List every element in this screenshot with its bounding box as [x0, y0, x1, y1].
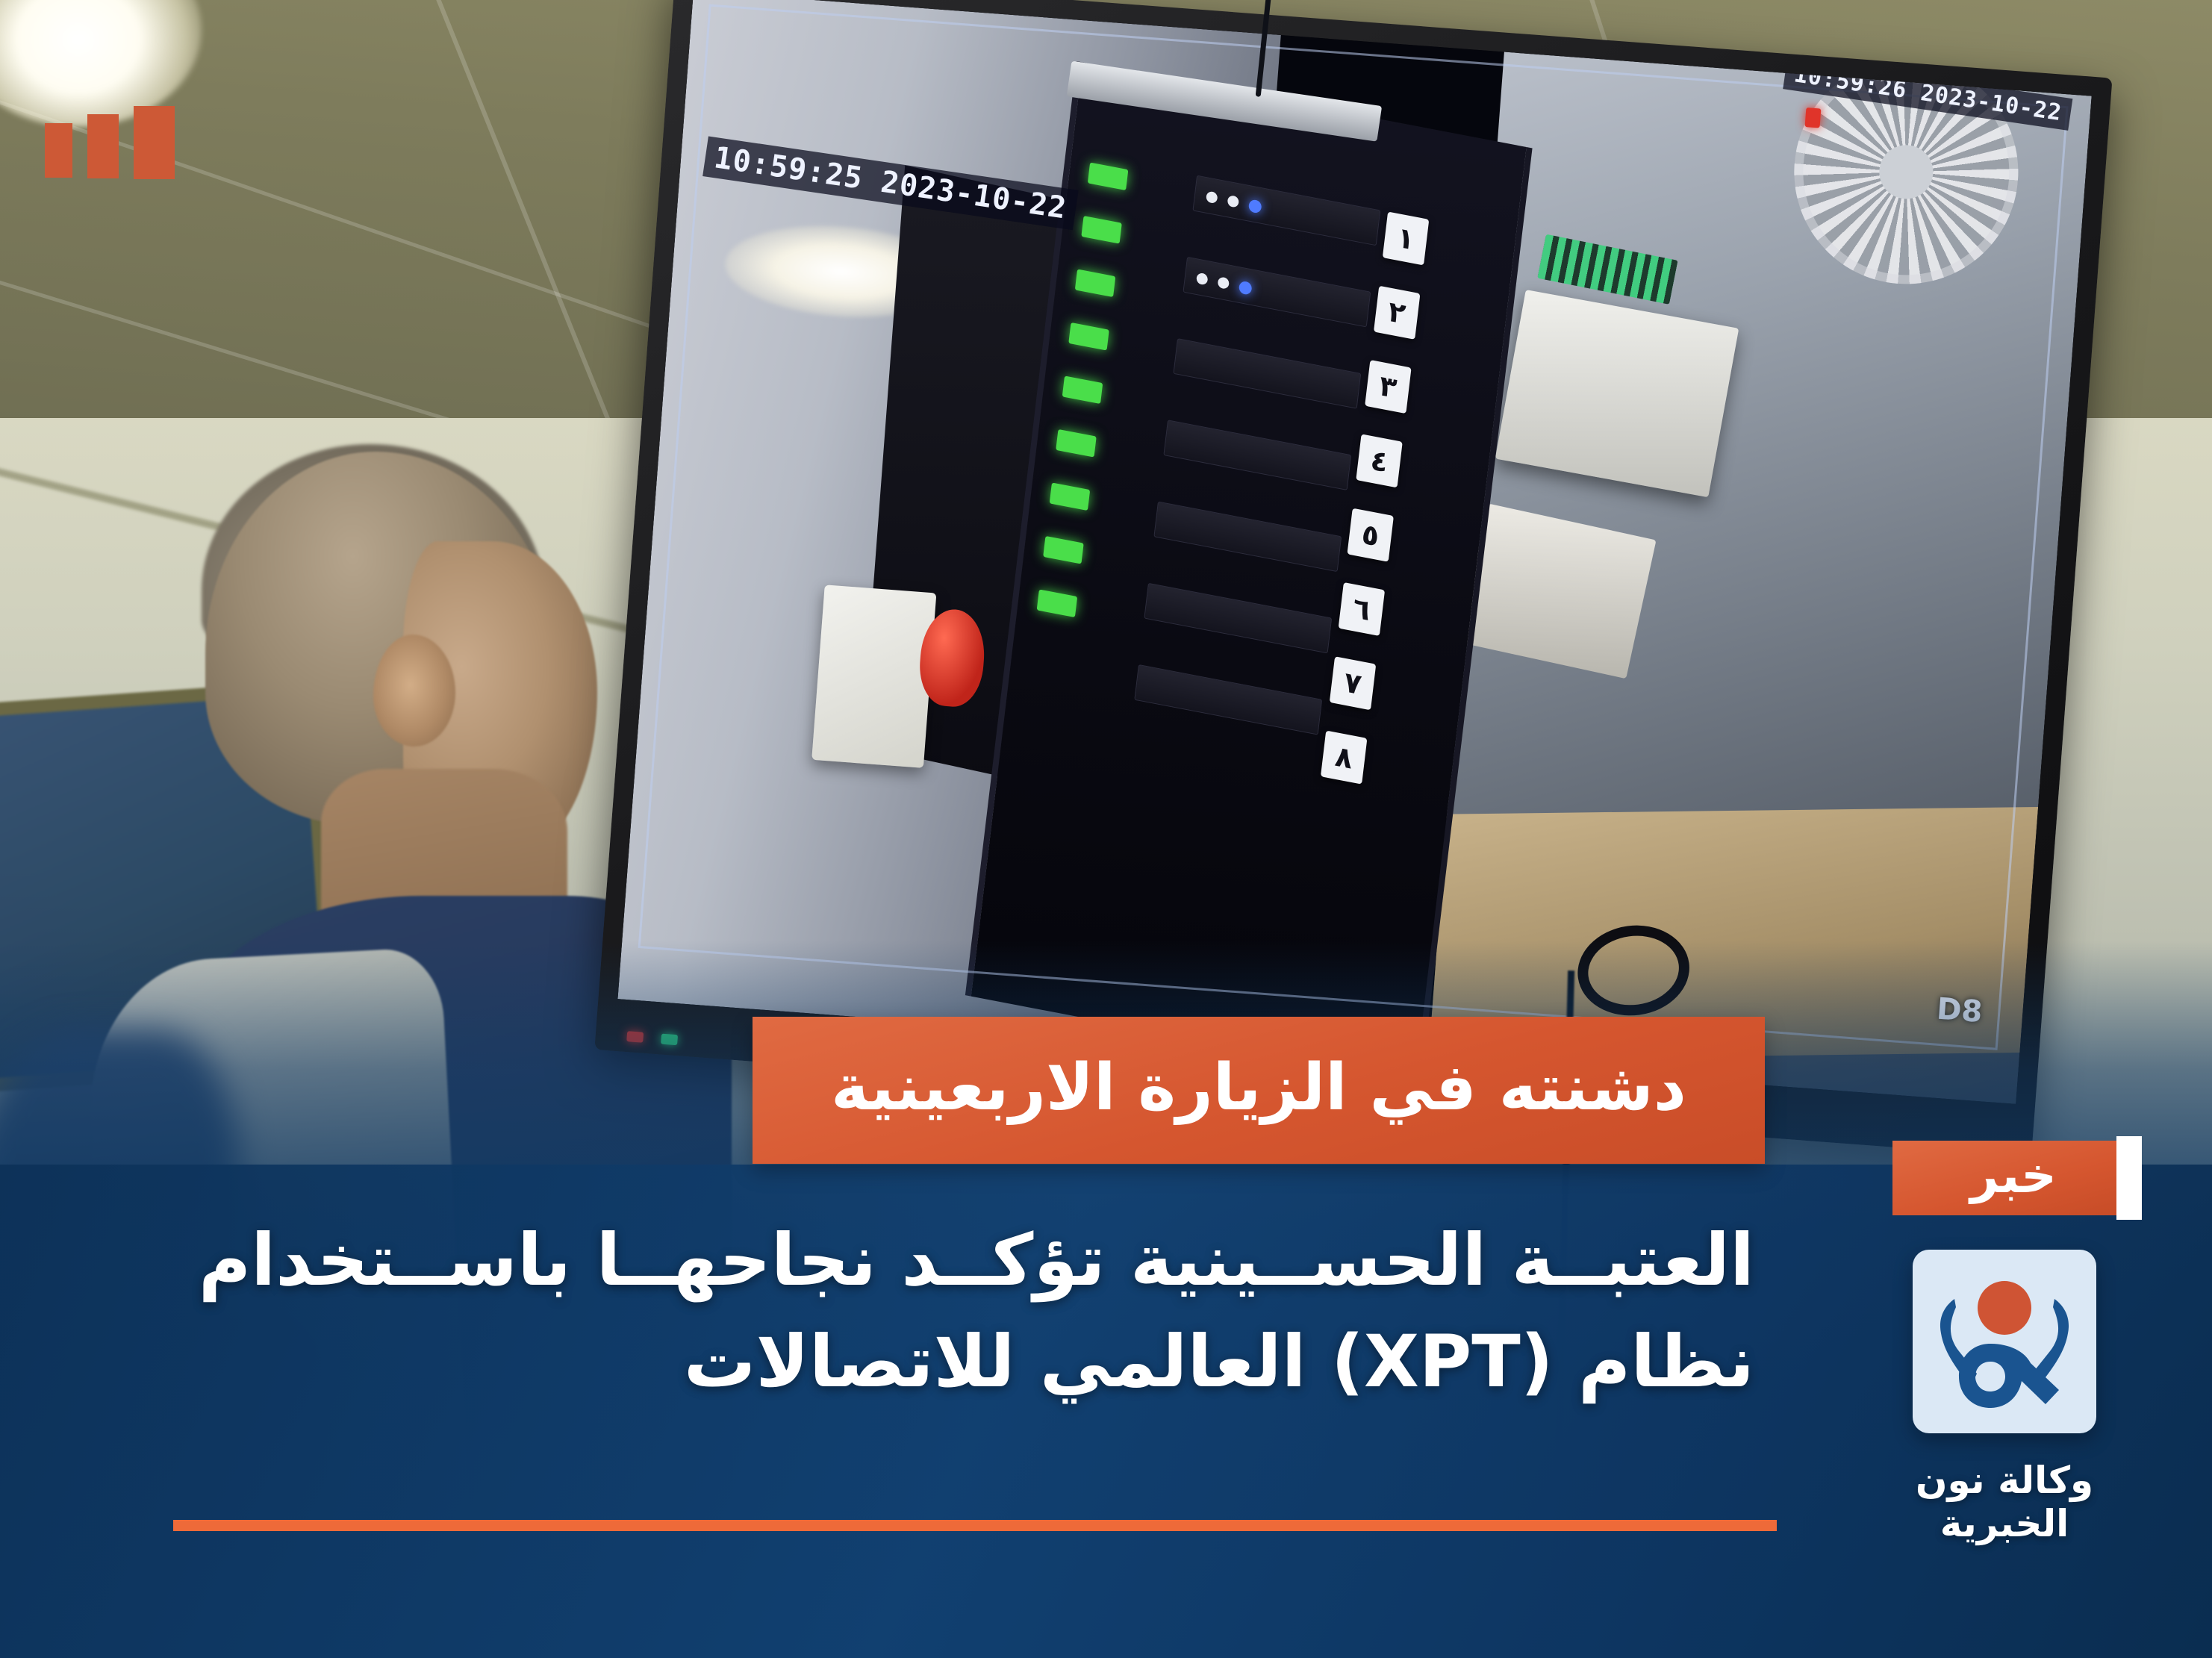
agency-logo-icon: [1913, 1250, 2096, 1433]
three-bars-logo: [45, 106, 175, 179]
cctv-cable-bundle: [1538, 234, 1678, 305]
news-badge-white-bar: [2116, 1136, 2142, 1220]
rack-slot-number: ٨: [1321, 731, 1367, 785]
rack-slot-number: ١: [1383, 211, 1429, 265]
rack-slot-number: ٧: [1330, 656, 1376, 710]
headline: العتبــة الحســينية تؤكــد نجاحهــا باسـ…: [112, 1209, 1754, 1413]
cctv-equipment-unit: [1459, 504, 1657, 679]
kicker-text: دشنته في الزيارة الاربعينية: [831, 1056, 1686, 1126]
logo-bar: [87, 114, 119, 178]
tv-screen: ١ ٢ ٣ ٤ ٥ ٦ ٧ ٨ 2023-10-22 10:59:: [617, 0, 2091, 1104]
cctv-equipment-unit: [1495, 290, 1739, 497]
news-badge-label: خبر: [1970, 1151, 2057, 1205]
rack-slot-number: ٦: [1339, 582, 1385, 636]
cctv-record-indicator: [1805, 107, 1822, 128]
kicker-badge: دشنته في الزيارة الاربعينية: [753, 1017, 1765, 1164]
person-ear: [373, 635, 455, 747]
headline-line-1: العتبــة الحســينية تؤكــد نجاحهــا باسـ…: [112, 1209, 1754, 1311]
cctv-feed: ١ ٢ ٣ ٤ ٥ ٦ ٧ ٨ 2023-10-22 10:59:: [617, 0, 2091, 1104]
logo-bar: [134, 106, 175, 179]
rack-slot-number: ٣: [1365, 360, 1411, 414]
brand-column: خبر وكالة نون الخبرية: [1863, 1141, 2146, 1545]
headline-line-2: نظام (XPT) العالمي للاتصالات: [112, 1311, 1754, 1412]
cctv-wall-box: [811, 585, 936, 768]
news-badge: خبر: [1892, 1141, 2116, 1215]
news-card: ١ ٢ ٣ ٤ ٥ ٦ ٧ ٨ 2023-10-22 10:59:: [0, 0, 2212, 1658]
ceiling-grid-line: [418, 0, 618, 440]
logo-bar: [45, 123, 72, 178]
rack-slot-number: ٢: [1374, 286, 1420, 340]
rack-slot-number: ٥: [1347, 508, 1393, 562]
agency-logo-tile: [1913, 1250, 2096, 1433]
orange-divider-rule: [173, 1520, 1777, 1531]
rack-slot-number: ٤: [1356, 434, 1402, 487]
agency-name: وكالة نون الخبرية: [1863, 1459, 2146, 1545]
